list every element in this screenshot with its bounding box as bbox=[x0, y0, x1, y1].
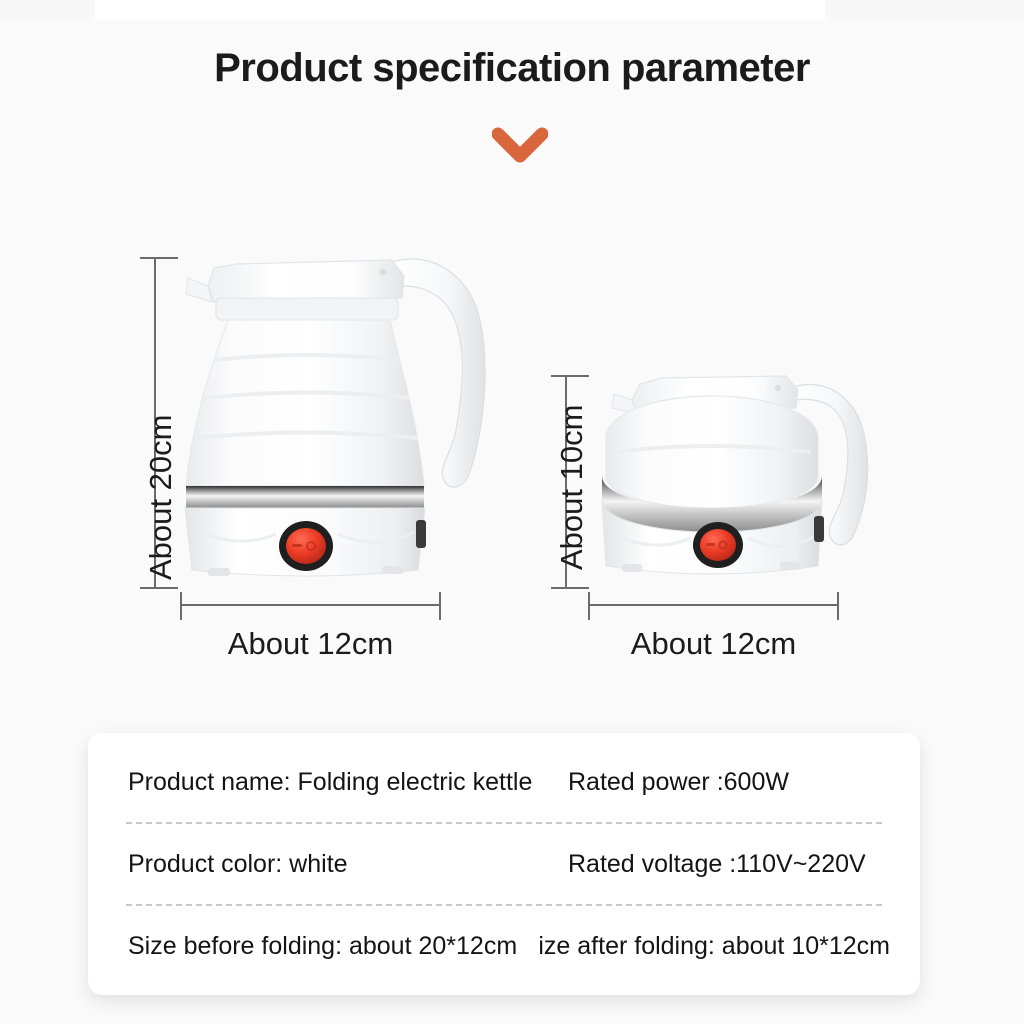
height-label-expanded: About 20cm bbox=[143, 415, 179, 580]
spec-row: Product color: white Rated voltage :110V… bbox=[118, 824, 890, 904]
product-dimension-diagram: About 20cm About 10cm About 12cm About 1… bbox=[0, 190, 1024, 690]
kettle-expanded-graphic bbox=[185, 259, 485, 576]
width-label-folded: About 12cm bbox=[589, 626, 838, 662]
spec-rated-power: Rated power :600W bbox=[568, 768, 890, 797]
width-label-expanded: About 12cm bbox=[181, 626, 440, 662]
power-switch-icon-folded bbox=[693, 522, 743, 568]
power-switch-icon-expanded bbox=[279, 521, 333, 571]
specification-card: Product name: Folding electric kettle Ra… bbox=[88, 733, 920, 995]
product-specification-page: Product specification parameter bbox=[0, 0, 1024, 1024]
spec-row: Size before folding: about 20*12cm ize a… bbox=[118, 906, 890, 986]
spec-rated-voltage: Rated voltage :110V~220V bbox=[568, 850, 890, 879]
kettle-folded-graphic bbox=[602, 376, 868, 574]
spec-row: Product name: Folding electric kettle Ra… bbox=[118, 742, 890, 822]
height-label-folded: About 10cm bbox=[554, 405, 590, 570]
spec-size-before-folding: Size before folding: about 20*12cm bbox=[118, 932, 538, 961]
page-title: Product specification parameter bbox=[0, 46, 1024, 91]
chevron-down-icon bbox=[492, 124, 548, 166]
spec-size-after-folding: ize after folding: about 10*12cm bbox=[538, 932, 890, 961]
top-white-band bbox=[95, 0, 825, 20]
spec-product-color: Product color: white bbox=[118, 850, 568, 879]
spec-product-name: Product name: Folding electric kettle bbox=[118, 768, 568, 797]
